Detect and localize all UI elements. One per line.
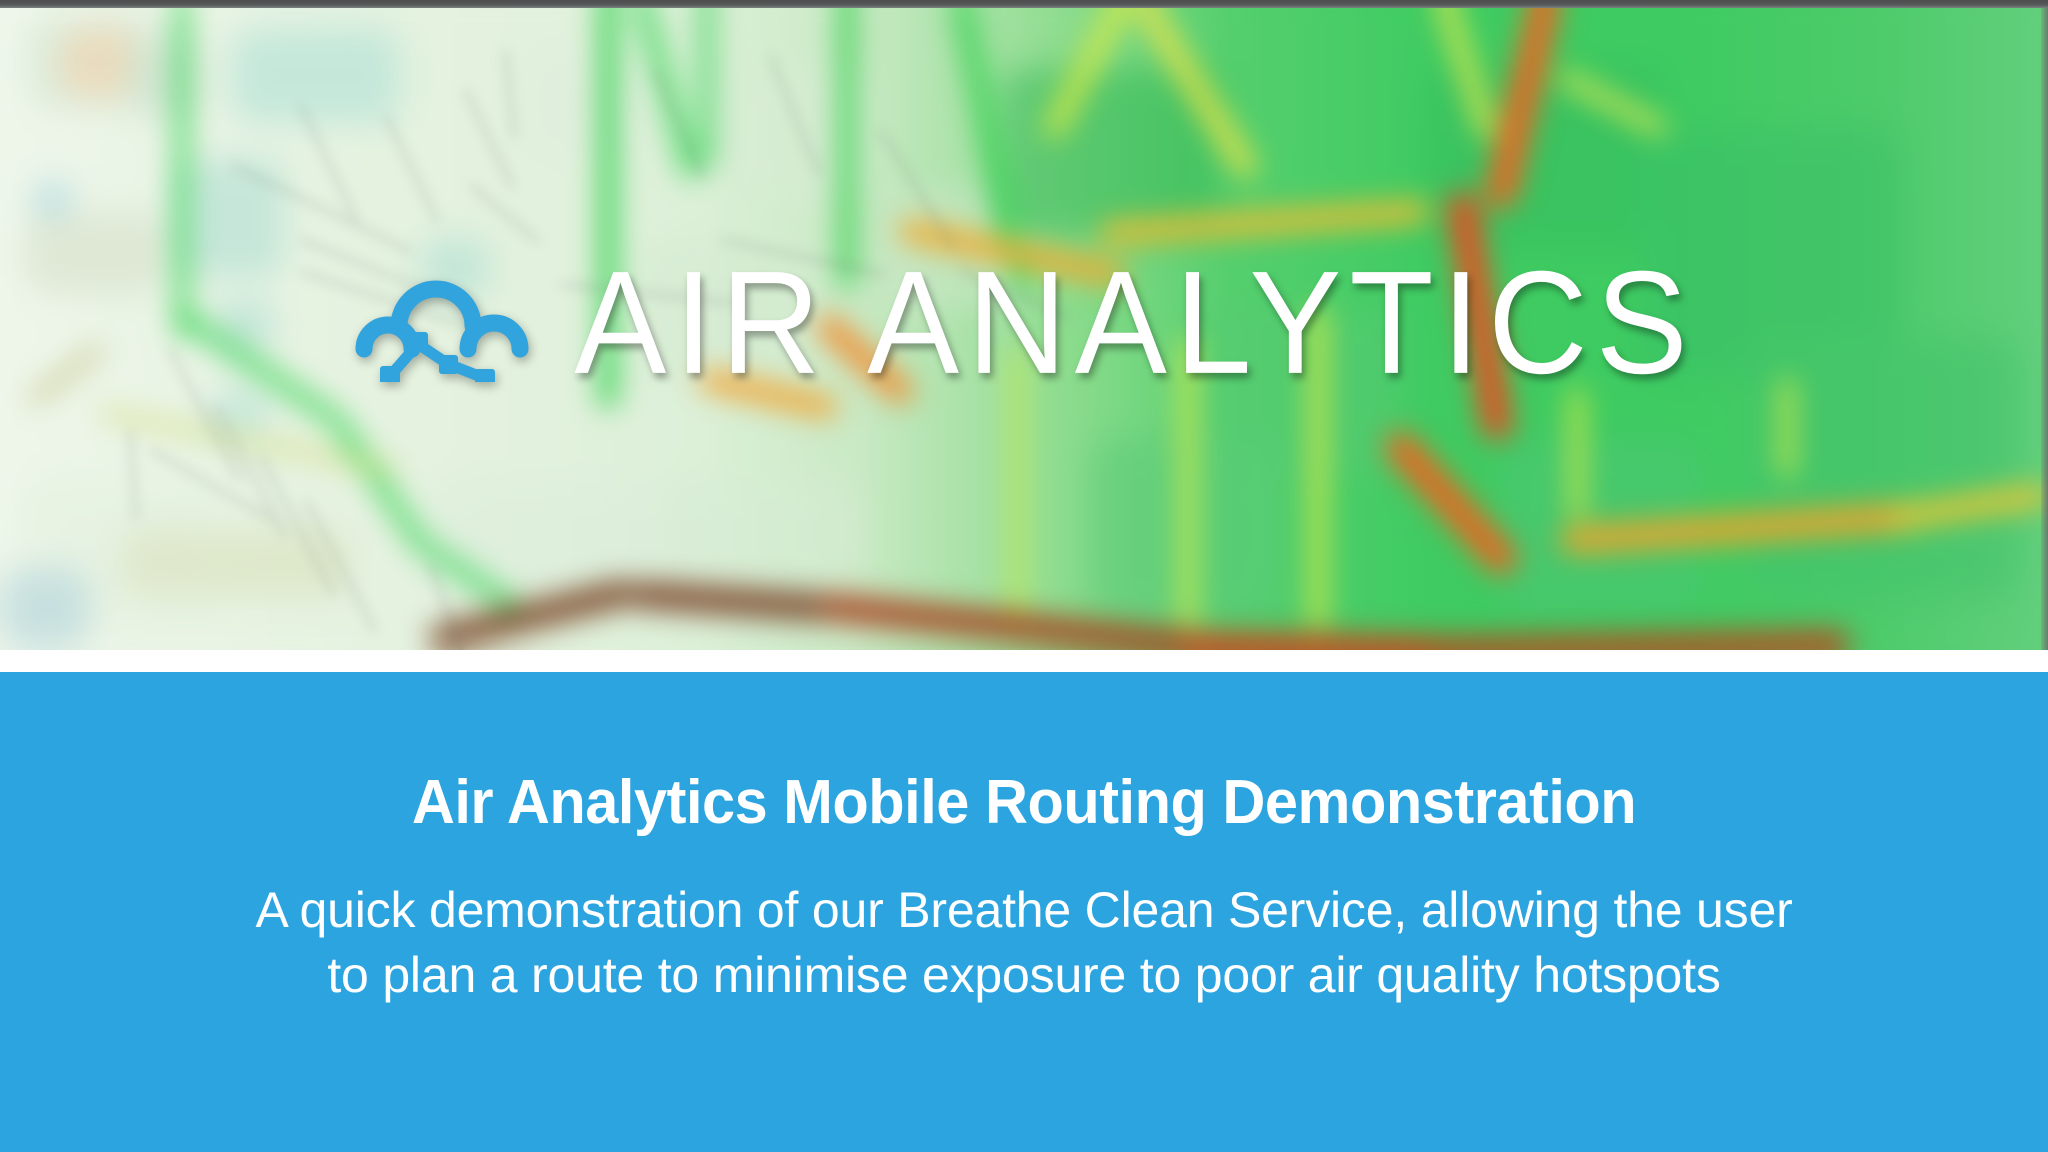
page-subtitle-line-1: A quick demonstration of our Breathe Cle… (70, 878, 1978, 943)
air-analytics-logo-lockup: AIR ANALYTICS (0, 228, 2048, 418)
section-separator (0, 650, 2048, 672)
caption-band: Air Analytics Mobile Routing Demonstrati… (0, 672, 2048, 1152)
page-subtitle-line-2: to plan a route to minimise exposure to … (70, 943, 1978, 1008)
window-chrome-bar (0, 0, 2048, 8)
page-subtitle: A quick demonstration of our Breathe Cle… (70, 878, 1978, 1008)
logo-wordmark: AIR ANALYTICS (574, 250, 1695, 396)
page-title: Air Analytics Mobile Routing Demonstrati… (41, 770, 2007, 835)
slide-root: AIR ANALYTICS Air Analytics Mobile Routi… (0, 0, 2048, 1152)
air-quality-heatmap-hero: AIR ANALYTICS (0, 8, 2048, 650)
hero-right-edge-shade (2041, 8, 2048, 650)
cloud-route-icon (352, 264, 530, 382)
